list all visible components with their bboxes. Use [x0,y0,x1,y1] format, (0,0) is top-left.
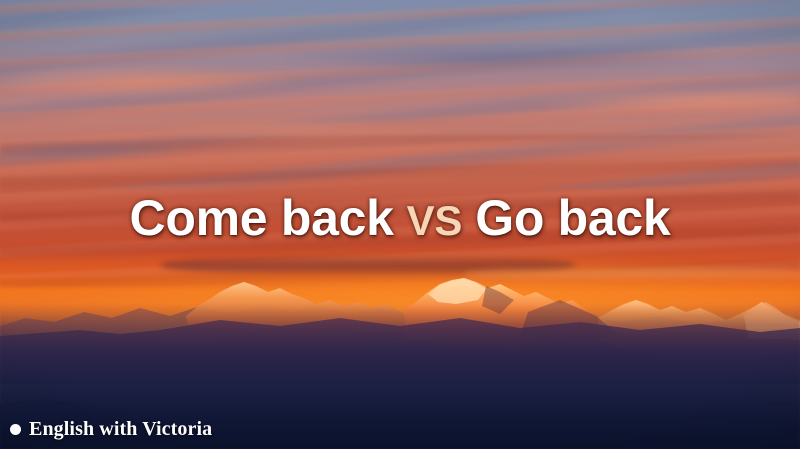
title-overlay: Come back VS Go back [0,193,800,243]
channel-watermark: English with Victoria [10,418,212,441]
title-right-phrase: Go back [475,193,670,243]
channel-name: English with Victoria [29,418,212,441]
title-left-phrase: Come back [130,193,394,243]
dot-bullet-icon [10,424,21,435]
title-separator-vs: VS [407,200,463,242]
thumbnail-canvas: Come back VS Go back English with Victor… [0,0,800,449]
